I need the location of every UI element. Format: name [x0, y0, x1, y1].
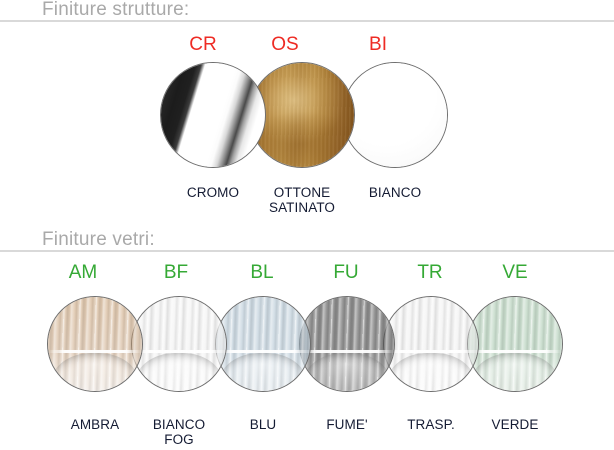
smoke-glass-texture	[300, 297, 394, 391]
name-label-bianco-fog: BIANCO FOG	[132, 417, 226, 447]
finishes-legend-page: Finiture strutture: CR OS BI CROMO OTTON…	[0, 0, 614, 450]
code-label-ve: VE	[495, 262, 535, 284]
section-header-strutture: Finiture strutture:	[42, 0, 189, 21]
name-label-blu: BLU	[216, 417, 310, 432]
code-label-fu: FU	[326, 262, 366, 284]
white-finish-texture	[343, 63, 447, 167]
section-divider-strutture	[0, 20, 614, 22]
section-header-vetri: Finiture vetri:	[42, 229, 155, 251]
chrome-finish-texture	[161, 63, 265, 167]
swatch-ambra[interactable]	[47, 296, 143, 392]
swatch-fume[interactable]	[299, 296, 395, 392]
code-label-tr: TR	[410, 262, 450, 284]
name-label-cromo: CROMO	[163, 185, 263, 200]
swatch-cromo[interactable]	[160, 62, 266, 168]
name-label-ottone-satinato: OTTONE SATINATO	[252, 185, 352, 215]
amber-glass-texture	[48, 297, 142, 391]
green-glass-texture	[468, 297, 562, 391]
code-label-bf: BF	[156, 262, 196, 284]
name-label-fume: FUME'	[300, 417, 394, 432]
swatch-bianco[interactable]	[342, 62, 448, 168]
name-label-bianco: BIANCO	[345, 185, 445, 200]
swatch-trasparente[interactable]	[383, 296, 479, 392]
swatch-verde[interactable]	[467, 296, 563, 392]
transparent-glass-texture	[384, 297, 478, 391]
code-label-am: AM	[63, 262, 103, 284]
blue-glass-texture	[216, 297, 310, 391]
swatch-blu[interactable]	[215, 296, 311, 392]
section-divider-vetri	[0, 250, 614, 252]
code-label-bl: BL	[242, 262, 282, 284]
name-label-verde: VERDE	[468, 417, 562, 432]
code-label-bi: BI	[358, 34, 398, 56]
white-fog-glass-texture	[132, 297, 226, 391]
swatch-bianco-fog[interactable]	[131, 296, 227, 392]
name-label-trasparente: TRASP.	[384, 417, 478, 432]
name-label-ambra: AMBRA	[48, 417, 142, 432]
code-label-os: OS	[265, 34, 305, 56]
code-label-cr: CR	[183, 34, 223, 56]
